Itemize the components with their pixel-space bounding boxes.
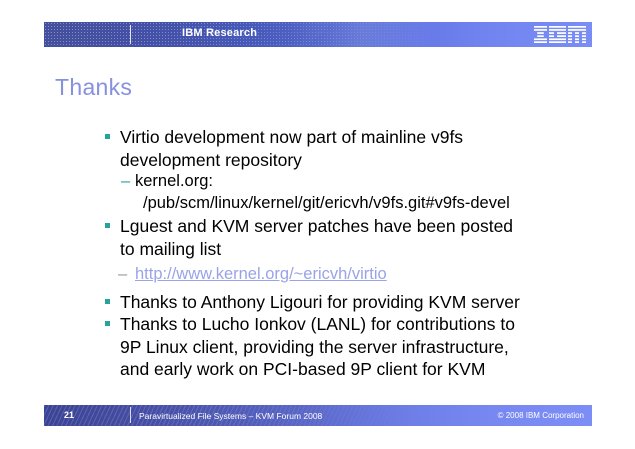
bullet-item: Thanks to Anthony Ligouri for providing … [104, 291, 594, 314]
bullet-item: Virtio development now part of mainline … [104, 126, 594, 171]
ibm-logo-icon [534, 26, 586, 43]
square-bullet-icon [105, 299, 110, 304]
square-bullet-icon [105, 321, 110, 326]
dash-bullet-icon: – [121, 171, 130, 193]
presentation-slide: IBM Research [0, 0, 635, 449]
bullet-item: Thanks to Lucho Ionkov (LANL) for contri… [104, 313, 594, 381]
sub-bullet-item: – kernel.org: /pub/scm/linux/kernel/git/… [104, 171, 594, 214]
sub-bullet-line: kernel.org: [135, 172, 213, 190]
slide-title: Thanks [55, 74, 132, 101]
sub-bullet-line: /pub/scm/linux/kernel/git/ericvh/v9fs.gi… [135, 193, 594, 215]
sub-bullet-link-item: – http://www.kernel.org/~ericvh/virtio [104, 264, 594, 286]
bullet-line: Virtio development now part of mainline … [120, 127, 463, 147]
square-bullet-icon [105, 223, 110, 228]
bullet-line: development repository [120, 150, 302, 170]
bullet-line: Thanks to Lucho Ionkov (LANL) for contri… [120, 314, 515, 334]
square-bullet-icon [105, 134, 110, 139]
bullet-line: to mailing list [120, 239, 221, 259]
slide-header-bar: IBM Research [44, 22, 592, 47]
bullet-line: Thanks to Anthony Ligouri for providing … [120, 292, 520, 312]
header-divider [130, 25, 131, 44]
kernel-virtio-link[interactable]: http://www.kernel.org/~ericvh/virtio [135, 265, 387, 283]
page-number: 21 [64, 410, 74, 420]
copyright-notice: © 2008 IBM Corporation [498, 411, 584, 420]
bullet-item: Lguest and KVM server patches have been … [104, 215, 594, 260]
bullet-line: and early work on PCI-based 9P client fo… [120, 359, 485, 379]
dash-bullet-icon: – [118, 264, 127, 286]
deck-title: Paravirtualized File Systems – KVM Forum… [139, 411, 322, 421]
bullet-line: Lguest and KVM server patches have been … [120, 216, 513, 236]
slide-footer-bar: 21 Paravirtualized File Systems – KVM Fo… [44, 405, 592, 426]
slide-body: Virtio development now part of mainline … [104, 126, 594, 381]
bullet-line: 9P Linux client, providing the server in… [120, 337, 509, 357]
footer-divider [130, 407, 131, 423]
brand-title: IBM Research [182, 27, 257, 39]
